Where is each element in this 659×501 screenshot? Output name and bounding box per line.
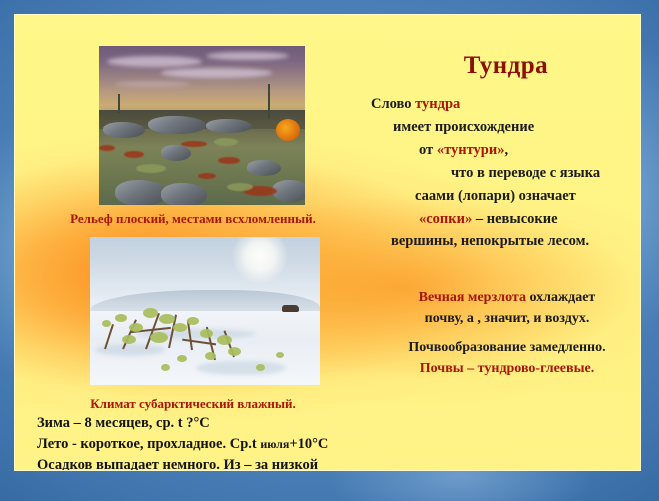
photo2-vehicle <box>282 305 299 312</box>
origin-line-3-tail: , <box>504 142 508 158</box>
photo1-rock <box>115 180 167 205</box>
permafrost-line-2: почву, а , значит, и воздух. <box>357 308 641 329</box>
photo1-tree <box>268 84 270 119</box>
photo2-leaf <box>102 320 111 327</box>
photo1-green-moss <box>136 164 166 173</box>
origin-line-6-highlight: «сопки» <box>419 211 472 227</box>
photo2-leaf <box>256 364 265 371</box>
permafrost-line-1-tail: охлаждает <box>526 290 595 305</box>
slide-content-panel: Тундра Слово тундра имеет происхождение … <box>14 14 641 471</box>
climate-line-2-tail: +10°С <box>289 436 328 452</box>
photo1-rock <box>161 183 207 205</box>
photo-snowy-tundra <box>90 237 320 385</box>
photo2-leaf <box>228 347 241 356</box>
photo1-cloud <box>161 68 272 78</box>
permafrost-text: Вечная мерзлота охлаждает почву, а , зна… <box>357 287 641 329</box>
photo2-leaf <box>159 314 175 324</box>
tundra-origin-text: Слово тундра имеет происхождение от «тун… <box>357 93 641 253</box>
photo2-leaf <box>143 308 158 318</box>
caption-climate: Климат субарктический влажный. <box>33 396 353 412</box>
climate-details-text: Зима – 8 месяцев, ср. t ?°С Лето - корот… <box>37 413 367 471</box>
origin-line-1-plain: Слово <box>371 96 415 112</box>
photo2-leaf <box>173 323 187 332</box>
page-title: Тундра <box>375 52 637 80</box>
climate-line-2: Лето - короткое, прохладное. Ср.t июля+1… <box>37 434 367 455</box>
climate-line-2-small: июля <box>260 437 289 451</box>
photo1-tree <box>118 94 120 113</box>
origin-line-1-highlight: тундра <box>415 96 460 112</box>
photo2-leaf <box>122 335 136 344</box>
origin-line-6-tail: – невысокие <box>472 211 557 227</box>
origin-line-6: «сопки» – невысокие <box>357 208 641 231</box>
caption-relief: Рельеф плоский, местами всхломленный. <box>33 211 353 227</box>
climate-line-3: Осадков выпадает немного. Из – за низкой <box>37 455 367 471</box>
soil-line-2: Почвы – тундрово-глеевые. <box>357 358 641 379</box>
photo2-leaf <box>129 323 143 332</box>
photo1-rock <box>206 119 252 133</box>
photo2-leaf <box>187 317 199 325</box>
origin-line-1: Слово тундра <box>357 93 641 116</box>
photo1-red-moss <box>124 151 144 158</box>
origin-line-5: саами (лопари) означает <box>357 185 641 208</box>
photo2-leaf <box>150 332 168 343</box>
climate-line-1: Зима – 8 месяцев, ср. t ?°С <box>37 413 367 434</box>
photo1-green-moss <box>227 183 253 191</box>
photo2-leaf <box>217 335 232 345</box>
photo1-rock <box>148 116 206 134</box>
origin-line-3-highlight: «тунтури» <box>437 142 505 158</box>
photo2-leaf <box>200 329 213 338</box>
photo1-red-moss <box>99 145 115 151</box>
permafrost-line-1-highlight: Вечная мерзлота <box>419 290 526 305</box>
panel-content-layer: Тундра Слово тундра имеет происхождение … <box>15 15 640 470</box>
origin-line-4: что в переводе с языка <box>357 162 641 185</box>
climate-line-2-main: Лето - короткое, прохладное. Ср.t <box>37 436 260 452</box>
slide-frame: Тундра Слово тундра имеет происхождение … <box>0 0 659 501</box>
origin-line-2: имеет происхождение <box>357 116 641 139</box>
photo1-cloud <box>107 56 202 67</box>
origin-line-7: вершины, непокрытые лесом. <box>357 230 641 253</box>
origin-line-3: от «тунтури», <box>357 139 641 162</box>
photo1-rock <box>161 145 191 161</box>
soil-line-1: Почвообразование замедленно. <box>357 337 641 358</box>
permafrost-line-1: Вечная мерзлота охлаждает <box>357 287 641 308</box>
soil-text: Почвообразование замедленно. Почвы – тун… <box>357 337 641 379</box>
photo-rocky-tundra <box>99 46 305 205</box>
origin-line-3-plain: от <box>419 142 437 158</box>
